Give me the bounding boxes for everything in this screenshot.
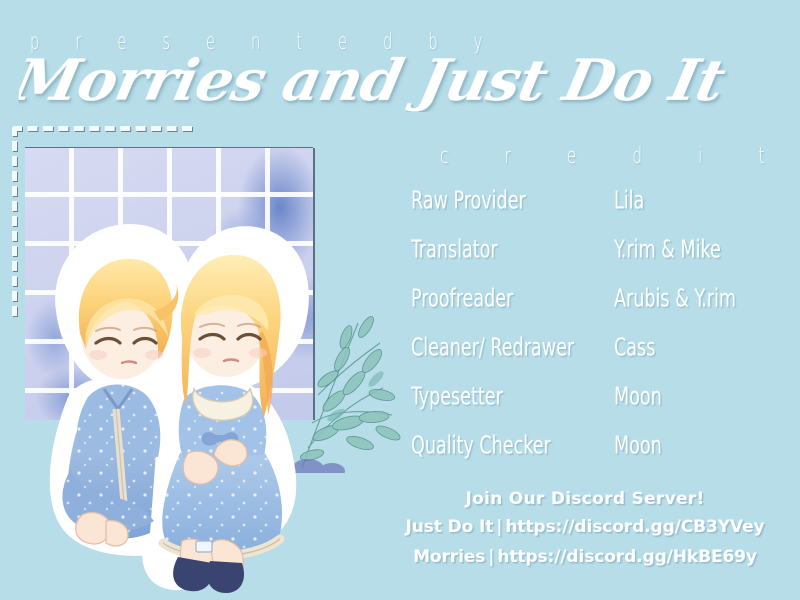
credit-role-label: Quality Checker bbox=[411, 431, 600, 459]
studio-title: Morries and Just Do It bbox=[18, 50, 798, 112]
credit-role-label: Translator bbox=[411, 235, 600, 263]
credit-row: ProofreaderArubis & Y.rim bbox=[411, 286, 791, 335]
credit-row: Raw ProviderLila bbox=[411, 188, 791, 237]
credit-row: TranslatorY.rim & Mike bbox=[411, 237, 791, 286]
discord-invite-link[interactable]: https://discord.gg/CB3YVey bbox=[505, 517, 764, 537]
discord-block: Join Our Discord Server! Just Do It|http… bbox=[380, 487, 790, 572]
credit-role-label: Typesetter bbox=[411, 382, 600, 410]
discord-separator: | bbox=[493, 517, 505, 537]
credit-name-value: Arubis & Y.rim bbox=[614, 284, 736, 312]
credit-role-label: Proofreader bbox=[411, 284, 600, 312]
credit-name-value: Y.rim & Mike bbox=[614, 235, 721, 263]
svg-text:Morries and Just Do It: Morries and Just Do It bbox=[18, 50, 732, 112]
credit-role-label: Cleaner/ Redrawer bbox=[411, 333, 600, 361]
discord-separator: | bbox=[485, 547, 497, 567]
characters-illustration bbox=[30, 203, 330, 593]
credits-table: Raw ProviderLilaTranslatorY.rim & MikePr… bbox=[411, 188, 791, 482]
credit-role-label: Raw Provider bbox=[411, 186, 600, 214]
discord-server-list: Just Do It|https://discord.gg/CB3YVeyMor… bbox=[380, 512, 790, 572]
credit-name-value: Moon bbox=[614, 431, 662, 459]
credit-row: TypesetterMoon bbox=[411, 384, 791, 433]
discord-server-row[interactable]: Morries|https://discord.gg/HkBE69y bbox=[380, 542, 790, 572]
discord-invite-title: Join Our Discord Server! bbox=[380, 487, 790, 512]
credit-row: Quality CheckerMoon bbox=[411, 433, 791, 482]
studio-title-script: Morries and Just Do It bbox=[18, 50, 798, 112]
illustration-block bbox=[0, 118, 400, 600]
discord-server-label: Morries bbox=[413, 547, 485, 567]
credits-page: p r e s e n t e d b y Morries and Just D… bbox=[0, 0, 800, 600]
credits-heading: c r e d i t s bbox=[440, 142, 800, 169]
credit-name-value: Lila bbox=[614, 186, 644, 214]
credit-name-value: Moon bbox=[614, 382, 662, 410]
credit-row: Cleaner/ RedrawerCass bbox=[411, 335, 791, 384]
discord-server-row[interactable]: Just Do It|https://discord.gg/CB3YVey bbox=[380, 512, 790, 542]
discord-server-label: Just Do It bbox=[406, 517, 494, 537]
discord-invite-link[interactable]: https://discord.gg/HkBE69y bbox=[497, 547, 757, 567]
credit-name-value: Cass bbox=[614, 333, 655, 361]
